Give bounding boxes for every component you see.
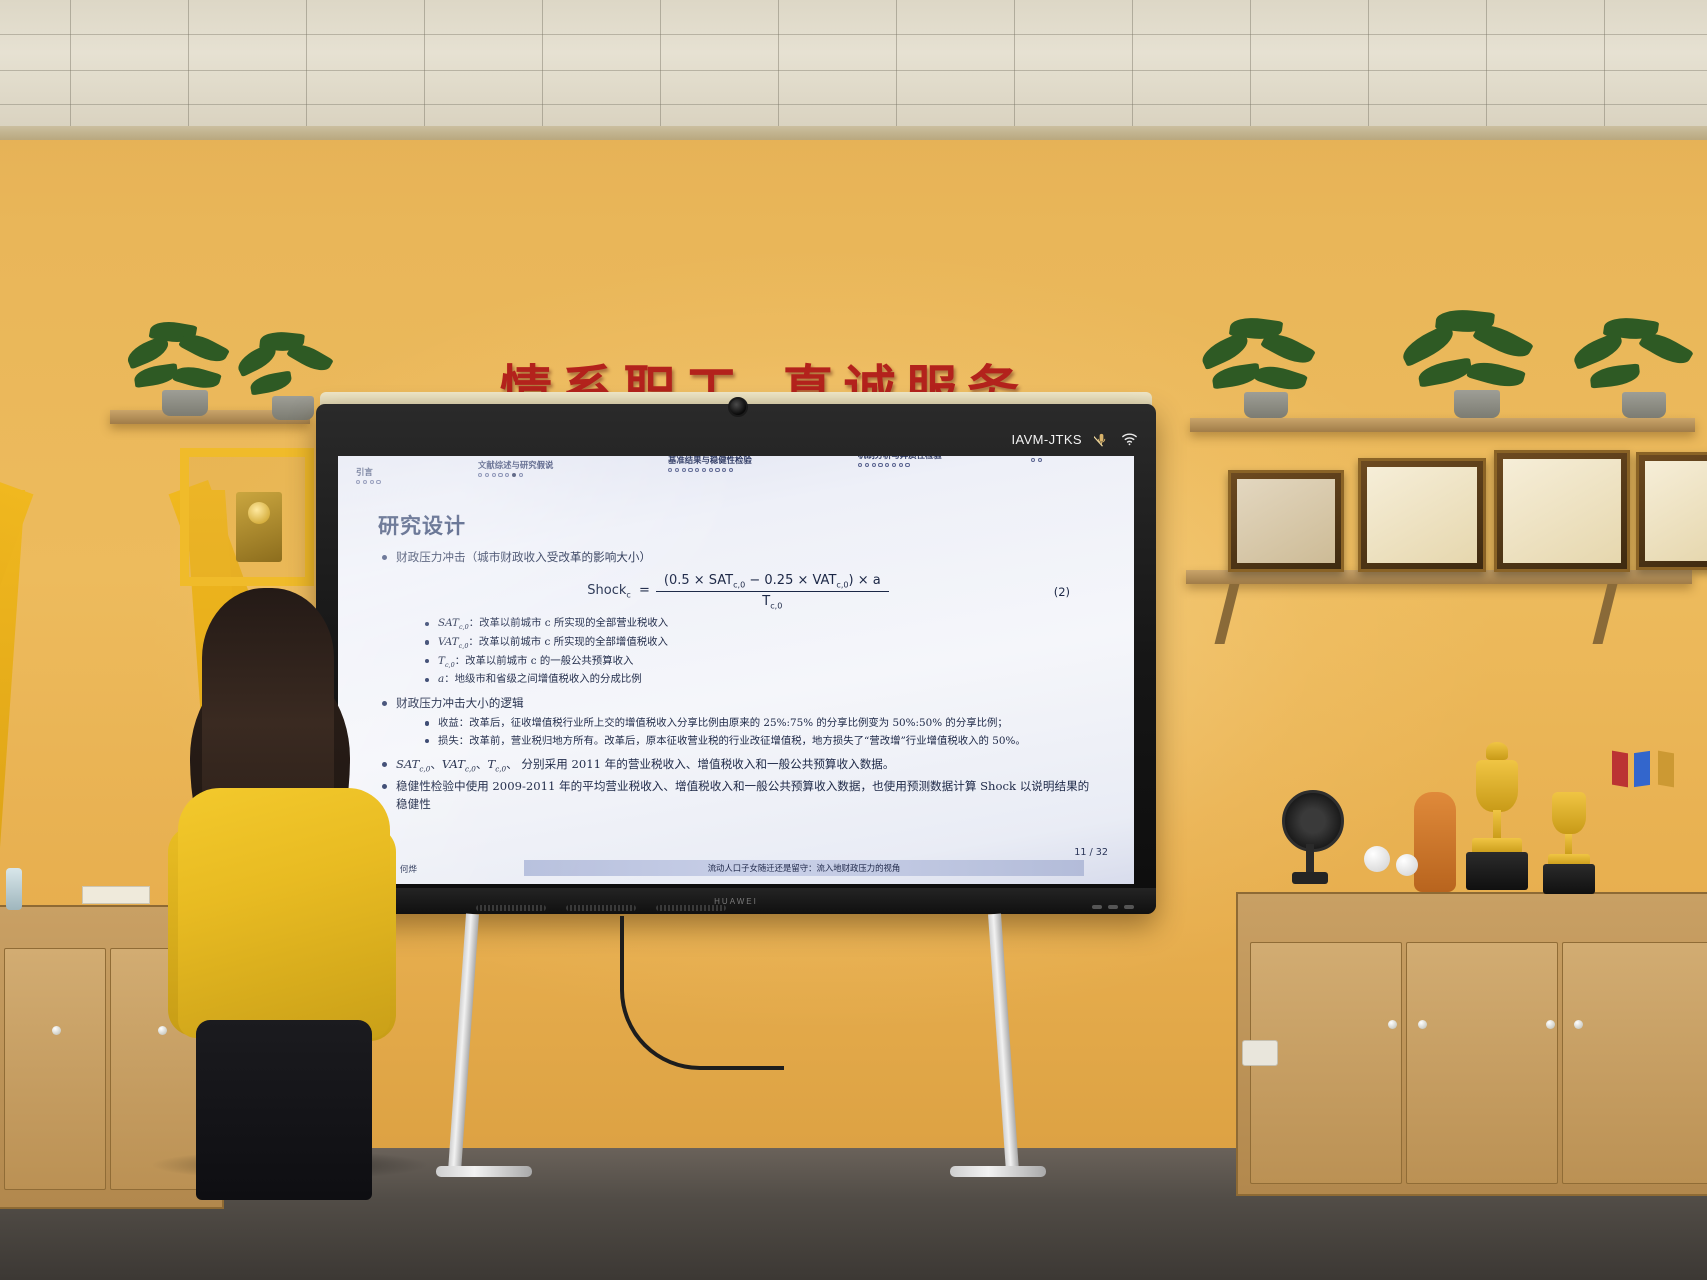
bullet-list-data: SATc,0、VATc,0、Tc,0、 分别采用 2011 年的营业税收入、增值… — [378, 756, 1098, 813]
equation-number: (2) — [1054, 585, 1070, 599]
speaker-left — [476, 905, 546, 911]
cabinet-right-knob-3[interactable] — [1546, 1020, 1555, 1029]
slide-footer: 张训常 何烨 流动人口子女随迁还是留守：流入地财政压力的视角 — [338, 862, 1134, 878]
bullet-fiscal-shock: 财政压力冲击（城市财政收入受改革的影响大小） — [378, 549, 1098, 567]
ceiling-tile-line — [1604, 0, 1605, 132]
shelf-bracket-2 — [1593, 584, 1618, 644]
slide-navigation: 引言 文献综述与研究假说 基准结果与稳健性检验 — [348, 466, 1124, 496]
ceiling-tile-line — [1486, 0, 1487, 132]
wall-outlet[interactable] — [1242, 1040, 1278, 1066]
equation-denominator: Tc,0 — [762, 592, 782, 611]
ceiling-tile-line — [1368, 0, 1369, 132]
room-background: 情 系 职 工 真 诚 服 务 — [0, 0, 1707, 1280]
trophy-star-icon — [248, 502, 270, 524]
camera-icon — [728, 397, 748, 417]
logic-item-loss: 损失：改革前，营业税归地方所有。改革后，原本征收营业税的行业改征增值税，地方损失… — [420, 734, 1098, 750]
bullet-robustness: 稳健性检验中使用 2009-2011 年的平均营业税收入、增值税收入和一般公共预… — [378, 778, 1098, 814]
wifi-icon[interactable] — [1121, 432, 1138, 446]
cabinet-right-knob-2[interactable] — [1418, 1020, 1427, 1029]
person-sweater — [178, 788, 390, 1038]
equation-fraction: (0.5 × SATc,0 − 0.25 × VATc,0) × a Tc,0 — [656, 573, 889, 610]
ceiling-grid-line — [0, 70, 1707, 71]
definition-list: SATc,0：改革以前城市 c 所实现的全部营业税收入 VATc,0：改革以前城… — [420, 616, 1098, 688]
bullet-list-logic: 财政压力冲击大小的逻辑 — [378, 695, 1098, 713]
display-stand-leg-right — [988, 914, 1019, 1176]
ceiling-tile-line — [1250, 0, 1251, 132]
cabinet-left-door-1[interactable] — [4, 948, 106, 1190]
slide-body: 财政压力冲击（城市财政收入受改革的影响大小） Shockc = (0.5 × S… — [378, 546, 1098, 817]
cabinet-right-door-3[interactable] — [1562, 942, 1707, 1184]
ceiling-tile-line — [188, 0, 189, 132]
interactive-display[interactable]: IAVM-JTKS — [316, 404, 1156, 914]
ball-white-1 — [1364, 846, 1390, 872]
speaker-right — [656, 905, 726, 911]
ceiling-tile-line — [542, 0, 543, 132]
display-status-bar: IAVM-JTKS — [1011, 428, 1138, 450]
bullet-data-sources: SATc,0、VATc,0、Tc,0、 分别采用 2011 年的营业税收入、增值… — [378, 756, 1098, 774]
definition-vat: VATc,0：改革以前城市 c 所实现的全部增值税收入 — [420, 635, 1098, 652]
nav-section-baseline-dots — [668, 468, 752, 472]
nav-section-baseline[interactable]: 基准结果与稳健性检验 — [668, 456, 752, 472]
ceiling — [0, 0, 1707, 132]
shelf-bracket-1 — [1215, 584, 1240, 644]
display-button-row[interactable] — [1092, 905, 1134, 909]
ceiling-tile-line — [896, 0, 897, 132]
speaker-center — [566, 905, 636, 911]
plant-right-2 — [1400, 308, 1550, 420]
nav-section-intro-label: 引言 — [356, 466, 381, 478]
plant-right-3 — [1570, 316, 1705, 420]
ceiling-tile-line — [306, 0, 307, 132]
display-stand-foot-left — [436, 1166, 532, 1177]
certificate-frame-3 — [1494, 450, 1630, 572]
vase-orange — [1414, 792, 1456, 892]
microphone-muted-icon[interactable] — [1094, 432, 1109, 447]
certificate-frame-4 — [1636, 452, 1707, 570]
equation-numerator: (0.5 × SATc,0 − 0.25 × VATc,0) × a — [656, 573, 889, 592]
person-pants — [196, 1020, 372, 1200]
ceiling-tile-line — [424, 0, 425, 132]
nav-section-literature[interactable]: 文献综述与研究假说 — [478, 459, 553, 477]
nav-section-conclusion[interactable]: 结论与政策启示 — [1031, 456, 1090, 462]
footer-title-bar: 流动人口子女随迁还是留守：流入地财政压力的视角 — [524, 860, 1084, 876]
desk-fan — [1280, 790, 1340, 890]
definition-a: a：地级市和省级之间增值税收入的分成比例 — [420, 672, 1098, 688]
bullet-shock-logic: 财政压力冲击大小的逻辑 — [378, 695, 1098, 713]
nav-section-mechanism[interactable]: 机制分析与异质性检验 — [858, 456, 942, 467]
slide-title: 研究设计 — [378, 510, 466, 540]
trophy-gold-large — [1464, 742, 1530, 892]
nav-section-intro-dots — [356, 480, 381, 484]
shelf-right-top — [1190, 418, 1695, 432]
ceiling-tile-line — [660, 0, 661, 132]
logic-item-gain: 收益：改革后，征收增值税行业所上交的增值税收入分享比例由原来的 25%:75% … — [420, 716, 1098, 732]
equation-lhs: Shockc = — [587, 583, 650, 600]
ceiling-tile-line — [778, 0, 779, 132]
nav-section-baseline-label: 基准结果与稳健性检验 — [668, 456, 752, 466]
slide-page-number: 11 / 32 — [1074, 847, 1108, 858]
display-button-1[interactable] — [1092, 905, 1102, 909]
ceiling-edge — [0, 126, 1707, 140]
nav-section-intro[interactable]: 引言 — [356, 466, 381, 484]
presentation-slide: 引言 文献综述与研究假说 基准结果与稳健性检验 — [338, 456, 1134, 884]
definition-t: Tc,0：改革以前城市 c 的一般公共预算收入 — [420, 654, 1098, 671]
display-screen[interactable]: 引言 文献综述与研究假说 基准结果与稳健性检验 — [338, 456, 1134, 884]
logic-item-list: 收益：改革后，征收增值税行业所上交的增值税收入分享比例由原来的 25%:75% … — [420, 716, 1098, 749]
definition-sat: SATc,0：改革以前城市 c 所实现的全部营业税收入 — [420, 616, 1098, 633]
display-button-2[interactable] — [1108, 905, 1118, 909]
certificate-frame-2 — [1358, 458, 1486, 572]
display-bottom-bar: HUAWEI — [316, 888, 1156, 914]
certificate-frame-1 — [1228, 470, 1344, 572]
cabinet-right-door-2[interactable] — [1406, 942, 1558, 1184]
nav-section-mechanism-label: 机制分析与异质性检验 — [858, 456, 942, 461]
cabinet-left-knob-1[interactable] — [52, 1026, 61, 1035]
footer-presentation-title: 流动人口子女随迁还是留守：流入地财政压力的视角 — [708, 862, 901, 874]
ceiling-tile-line — [70, 0, 71, 132]
display-stand-foot-right — [950, 1166, 1046, 1177]
ceiling-grid-line — [0, 34, 1707, 35]
presenter-person — [160, 588, 410, 1188]
ceiling-tile-line — [1014, 0, 1015, 132]
trophy-gold-small — [1542, 782, 1598, 894]
nav-section-literature-label: 文献综述与研究假说 — [478, 459, 553, 471]
ceiling-tile-line — [1132, 0, 1133, 132]
cabinet-right-knob-1[interactable] — [1388, 1020, 1397, 1029]
cabinet-right-knob-4[interactable] — [1574, 1020, 1583, 1029]
display-stand-leg-left — [448, 914, 479, 1176]
display-button-3[interactable] — [1124, 905, 1134, 909]
shelf-right-bottom — [1186, 570, 1692, 584]
power-cable — [620, 916, 784, 1070]
nav-section-conclusion-dots — [1031, 458, 1090, 462]
nav-section-literature-dots — [478, 473, 553, 477]
equation-shock: Shockc = (0.5 × SATc,0 − 0.25 × VATc,0) … — [378, 573, 1098, 610]
plant-right-1 — [1196, 318, 1326, 420]
bottle-left — [6, 868, 22, 910]
paper-stack-left — [82, 886, 150, 904]
bullet-list-level1: 财政压力冲击（城市财政收入受改革的影响大小） — [378, 549, 1098, 567]
ceiling-grid-line — [0, 104, 1707, 105]
medal-ribbons — [1612, 752, 1692, 792]
ball-white-2 — [1396, 854, 1418, 876]
nav-section-mechanism-dots — [858, 463, 942, 467]
device-name-label: IAVM-JTKS — [1011, 432, 1082, 447]
plant-left-1 — [120, 318, 240, 418]
